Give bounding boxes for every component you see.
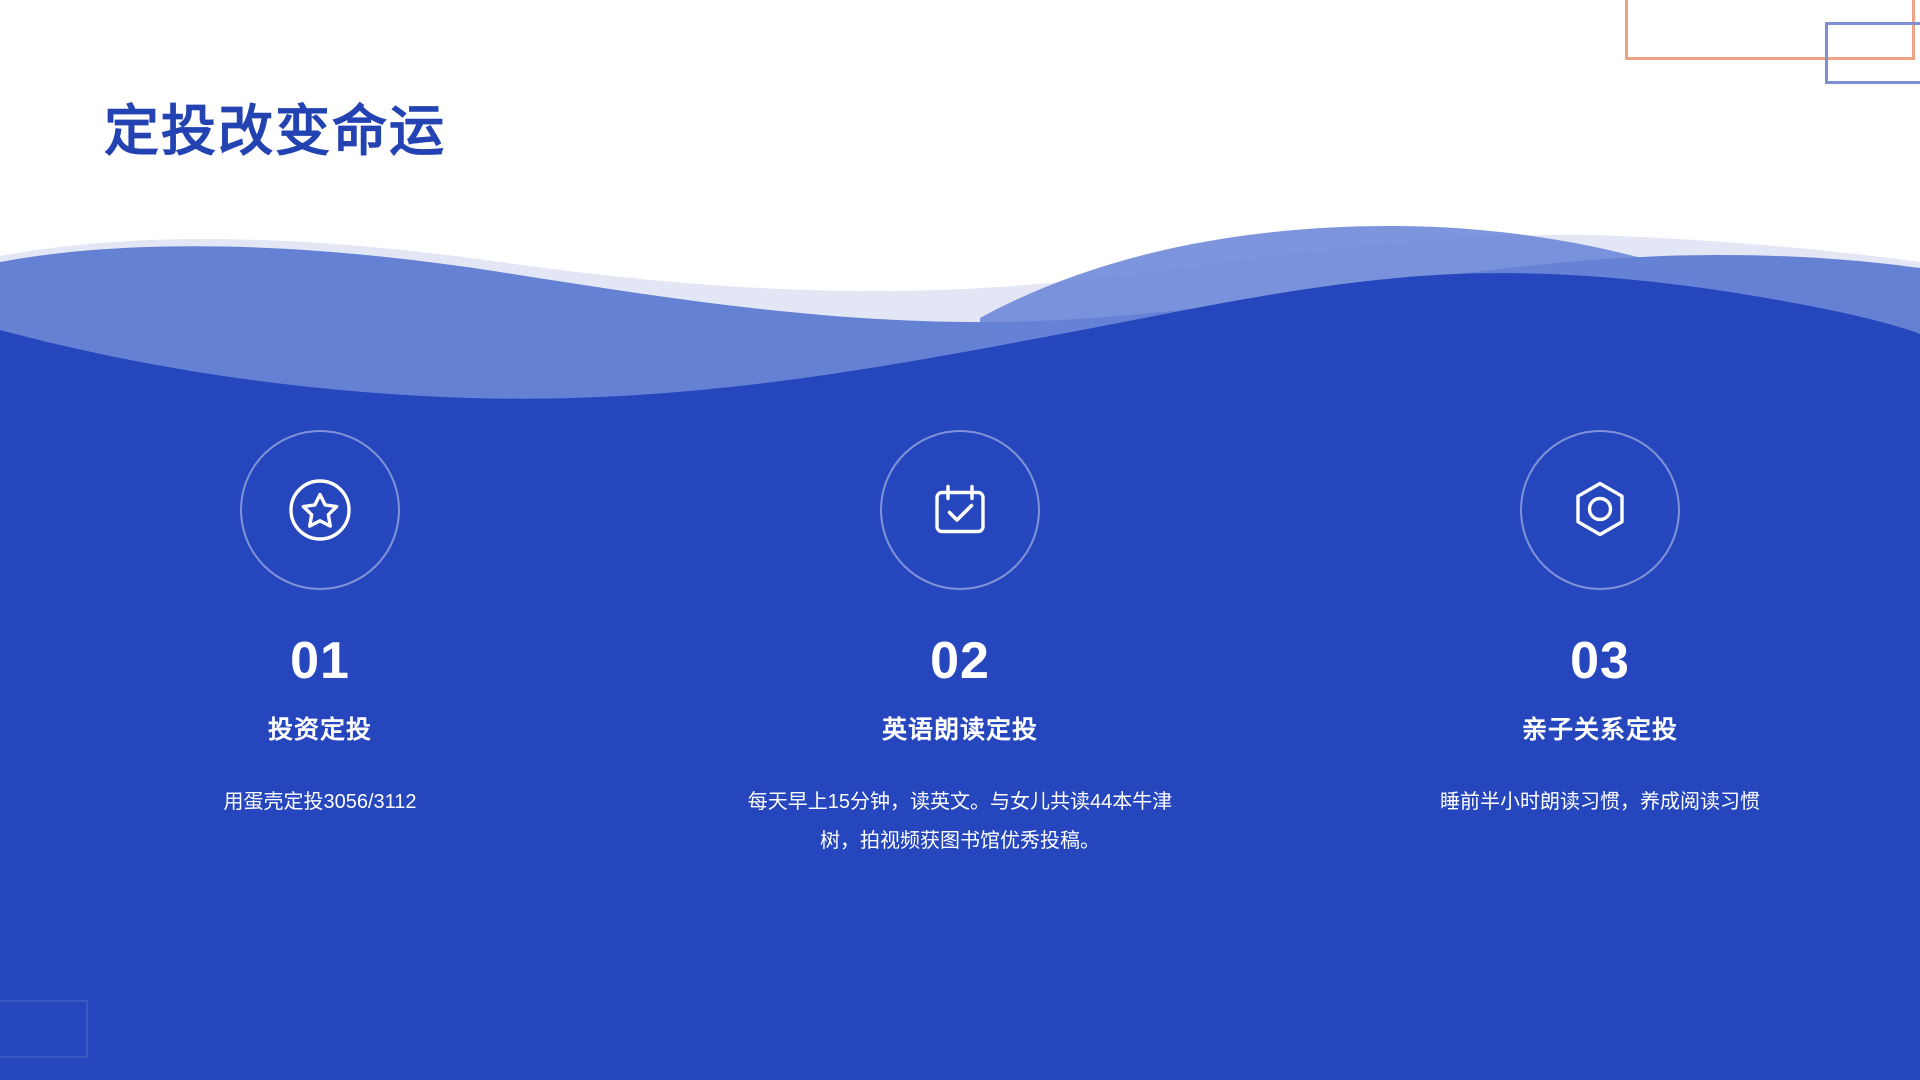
page-title: 定投改变命运: [104, 100, 446, 163]
decorative-rectangle-blue: [1825, 22, 1920, 84]
column-heading: 投资定投: [268, 715, 372, 745]
star-circle-icon: [284, 474, 356, 546]
feature-columns: 01 投资定投 用蛋壳定投3056/3112 02 英语朗读定投 每天早上15分…: [0, 430, 1920, 861]
column-heading: 英语朗读定投: [882, 715, 1038, 745]
column-description: 用蛋壳定投3056/3112: [115, 783, 525, 822]
hexagon-circle-icon: [1564, 474, 1636, 546]
column-heading: 亲子关系定投: [1522, 715, 1678, 745]
calendar-check-icon: [924, 474, 996, 546]
column-description: 睡前半小时朗读习惯，养成阅读习惯: [1395, 783, 1805, 822]
feature-column-01: 01 投资定投 用蛋壳定投3056/3112: [0, 430, 640, 822]
feature-column-03: 03 亲子关系定投 睡前半小时朗读习惯，养成阅读习惯: [1280, 430, 1920, 822]
column-description: 每天早上15分钟，读英文。与女儿共读44本牛津树，拍视频获图书馆优秀投稿。: [740, 783, 1180, 861]
icon-ring-03: [1520, 430, 1680, 590]
slide-canvas: 定投改变命运 01 投资定投 用蛋壳定投3056/3112: [0, 0, 1920, 1080]
column-number: 03: [1570, 635, 1630, 687]
icon-ring-02: [880, 430, 1040, 590]
column-number: 01: [290, 635, 350, 687]
feature-column-02: 02 英语朗读定投 每天早上15分钟，读英文。与女儿共读44本牛津树，拍视频获图…: [640, 430, 1280, 861]
icon-ring-01: [240, 430, 400, 590]
column-number: 02: [930, 635, 990, 687]
decorative-rectangle-bottom-left: [0, 1000, 88, 1058]
